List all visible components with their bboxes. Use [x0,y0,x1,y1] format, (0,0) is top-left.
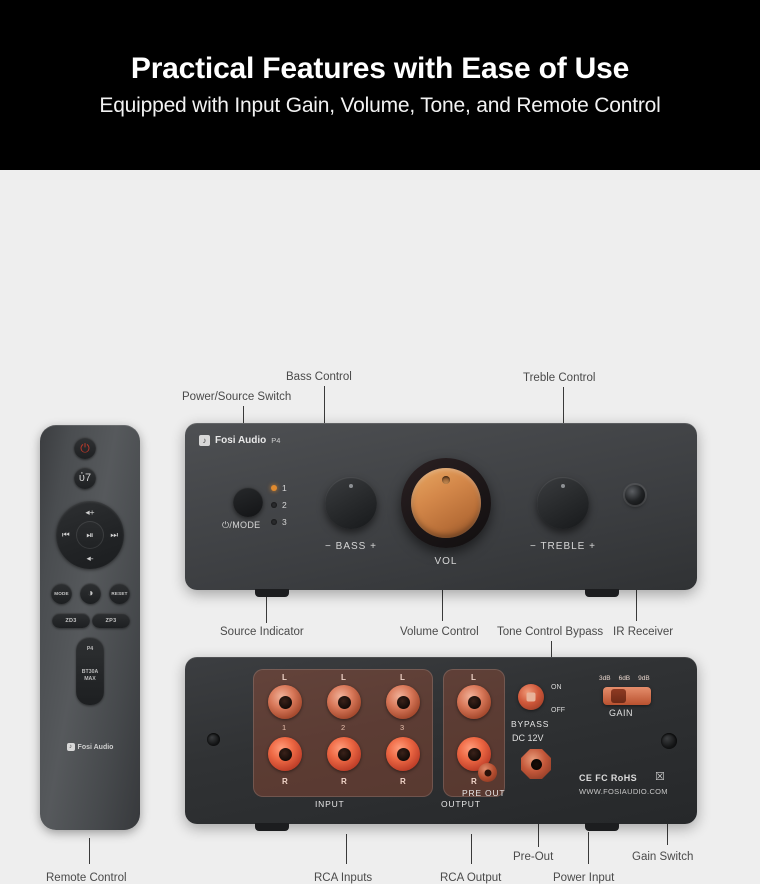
weee-bin-icon: ☒ [655,770,665,783]
volume-down-icon[interactable]: ◂- [86,553,93,564]
remote-p4-label: P4 [87,646,93,652]
input-1-l-label: L [282,673,287,682]
gain-label: GAIN [609,708,633,718]
rear-foot-left [255,823,289,831]
certification-marks: CE FC RoHS [579,773,637,783]
led-indicator-3 [271,519,277,525]
input-2-number: 2 [341,723,345,732]
led-number-1: 1 [282,483,287,493]
callout-power-input: Power Input [553,872,614,884]
gain-option-labels: 3dB 6dB 9dB [599,675,650,682]
bypass-off-label: OFF [551,707,565,714]
play-pause-icon[interactable]: ⏯ [76,521,104,549]
leader-volume-control [442,588,443,621]
remote-control[interactable]: ⏻ ὐ7 ◂+ ◂- ⏮ ⏭ ⏯ MODE ◑ RESET ZD3 ZP3 P4… [40,425,140,830]
front-brand-logo: ♪ Fosi Audio P4 [199,435,280,446]
page-subtitle: Equipped with Input Gain, Volume, Tone, … [99,94,660,118]
product-diagram-stage: Power/Source Switch Bass Control Treble … [0,170,760,765]
next-track-icon[interactable]: ⏭ [110,530,118,541]
gain-option-6db: 6dB [619,675,631,682]
dc-input-label: DC 12V [512,733,544,743]
treble-knob[interactable] [537,477,589,529]
rca-input-2-right[interactable] [327,737,361,771]
input-section-label: INPUT [315,799,345,809]
input-3-number: 3 [400,723,404,732]
input-1-r-label: R [282,777,288,786]
source-led-1: 1 [271,483,287,493]
remote-bt30a-label: BT30A [82,669,98,676]
remote-zd3-button[interactable]: ZD3 [52,613,90,628]
input-2-l-label: L [341,673,346,682]
screw-hole-left [207,733,220,746]
output-r-label: R [471,777,477,786]
volume-label: VOL [401,556,491,567]
front-brand-name: Fosi Audio [215,435,266,446]
callout-rca-inputs: RCA Inputs [314,872,372,884]
pre-out-jack[interactable] [478,763,497,782]
remote-p4-button[interactable]: P4 BT30A MAX [76,637,104,705]
led-indicator-1 [271,485,277,491]
dimmer-icon[interactable]: ◑ [80,583,101,604]
leader-remote-control [89,838,90,864]
remote-max-label: MAX [82,676,98,683]
remote-power-icon[interactable]: ⏻ [74,437,96,459]
music-note-icon: ♪ [67,743,75,751]
front-model-name: P4 [271,436,280,445]
music-note-icon: ♪ [199,435,210,446]
screw-hole-right [661,733,677,749]
output-section-label: OUTPUT [441,799,481,809]
callout-treble-control: Treble Control [523,372,595,384]
remote-mode-button[interactable]: MODE [51,583,72,604]
led-indicator-2 [271,502,277,508]
previous-track-icon[interactable]: ⏮ [62,530,70,541]
pre-out-label: PRE OUT [462,788,505,798]
callout-ir-receiver: IR Receiver [613,626,673,638]
callout-pre-out: Pre-Out [513,851,553,863]
volume-knob[interactable] [401,458,491,548]
remote-dpad[interactable]: ◂+ ◂- ⏮ ⏭ ⏯ [56,501,124,569]
rca-output-left[interactable] [457,685,491,719]
gain-option-9db: 9dB [638,675,650,682]
website-label: WWW.FOSIAUDIO.COM [579,787,668,796]
front-foot-right [585,589,619,597]
front-foot-left [255,589,289,597]
callout-source-indicator: Source Indicator [220,626,304,638]
callout-bass-control: Bass Control [286,371,352,383]
remote-brand-name: Fosi Audio [78,744,114,751]
dc-power-jack[interactable] [521,749,551,779]
bypass-label: BYPASS [511,719,549,729]
amplifier-front-panel: ♪ Fosi Audio P4 ⏻/MODE 1 2 3 − BASS + [185,423,697,590]
leader-pre-out [538,824,539,847]
source-indicator-leds: 1 2 3 [271,483,287,534]
rear-foot-right [585,823,619,831]
gain-slide-switch[interactable] [603,687,651,705]
bass-knob[interactable] [325,477,377,529]
leader-power-input [588,832,589,864]
remote-zp3-button[interactable]: ZP3 [92,613,130,628]
input-1-number: 1 [282,723,286,732]
power-source-button[interactable] [233,487,263,517]
remote-brand-logo: ♪ Fosi Audio [40,743,140,751]
volume-knob-face [411,468,481,538]
led-number-3: 3 [282,517,287,527]
ir-receiver-window [625,485,645,505]
remote-mute-icon[interactable]: ὐ7 [74,467,96,489]
callout-tone-control-bypass: Tone Control Bypass [497,626,603,638]
bypass-on-label: ON [551,684,562,691]
output-l-label: L [471,673,476,682]
header-banner: Practical Features with Ease of Use Equi… [0,0,760,170]
volume-up-icon[interactable]: ◂+ [85,507,94,518]
rca-input-3-left[interactable] [386,685,420,719]
rca-input-1-right[interactable] [268,737,302,771]
tone-bypass-switch[interactable] [518,684,544,710]
gain-option-3db: 3dB [599,675,611,682]
input-2-r-label: R [341,777,347,786]
rca-input-1-left[interactable] [268,685,302,719]
led-number-2: 2 [282,500,287,510]
bass-label: − BASS + [325,541,377,552]
source-led-2: 2 [271,500,287,510]
source-led-3: 3 [271,517,287,527]
input-3-r-label: R [400,777,406,786]
page-title: Practical Features with Ease of Use [131,52,629,86]
callout-rca-output: RCA Output [440,872,501,884]
callout-power-source-switch: Power/Source Switch [182,391,291,403]
leader-rca-inputs [346,834,347,864]
leader-rca-output [471,834,472,864]
power-mode-label: ⏻/MODE [222,520,260,531]
callout-remote-control: Remote Control [46,872,127,884]
amplifier-rear-panel: L 1 R L 2 R L 3 R INPUT L R OUTPUT ON OF… [185,657,697,824]
callout-volume-control: Volume Control [400,626,479,638]
callout-gain-switch: Gain Switch [632,851,693,863]
rca-input-3-right[interactable] [386,737,420,771]
treble-label: − TREBLE + [529,541,597,552]
remote-reset-button[interactable]: RESET [109,583,130,604]
rca-input-2-left[interactable] [327,685,361,719]
input-3-l-label: L [400,673,405,682]
